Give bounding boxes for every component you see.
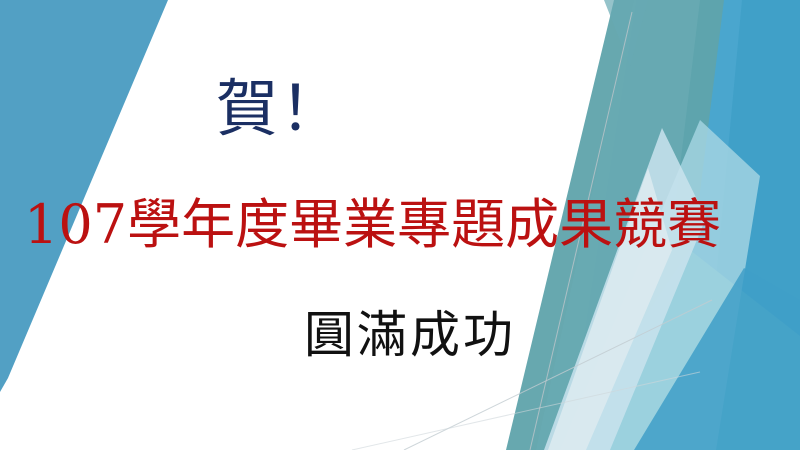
slide-text-content: 賀！ 107學年度畢業專題成果競賽 圓滿成功 (0, 0, 800, 450)
subtitle-success: 圓滿成功 (200, 310, 620, 360)
title-competition: 107學年度畢業專題成果競賽 (24, 198, 664, 252)
slide-canvas: 賀！ 107學年度畢業專題成果競賽 圓滿成功 (0, 0, 800, 450)
headline-congratulations: 賀！ (0, 78, 560, 140)
